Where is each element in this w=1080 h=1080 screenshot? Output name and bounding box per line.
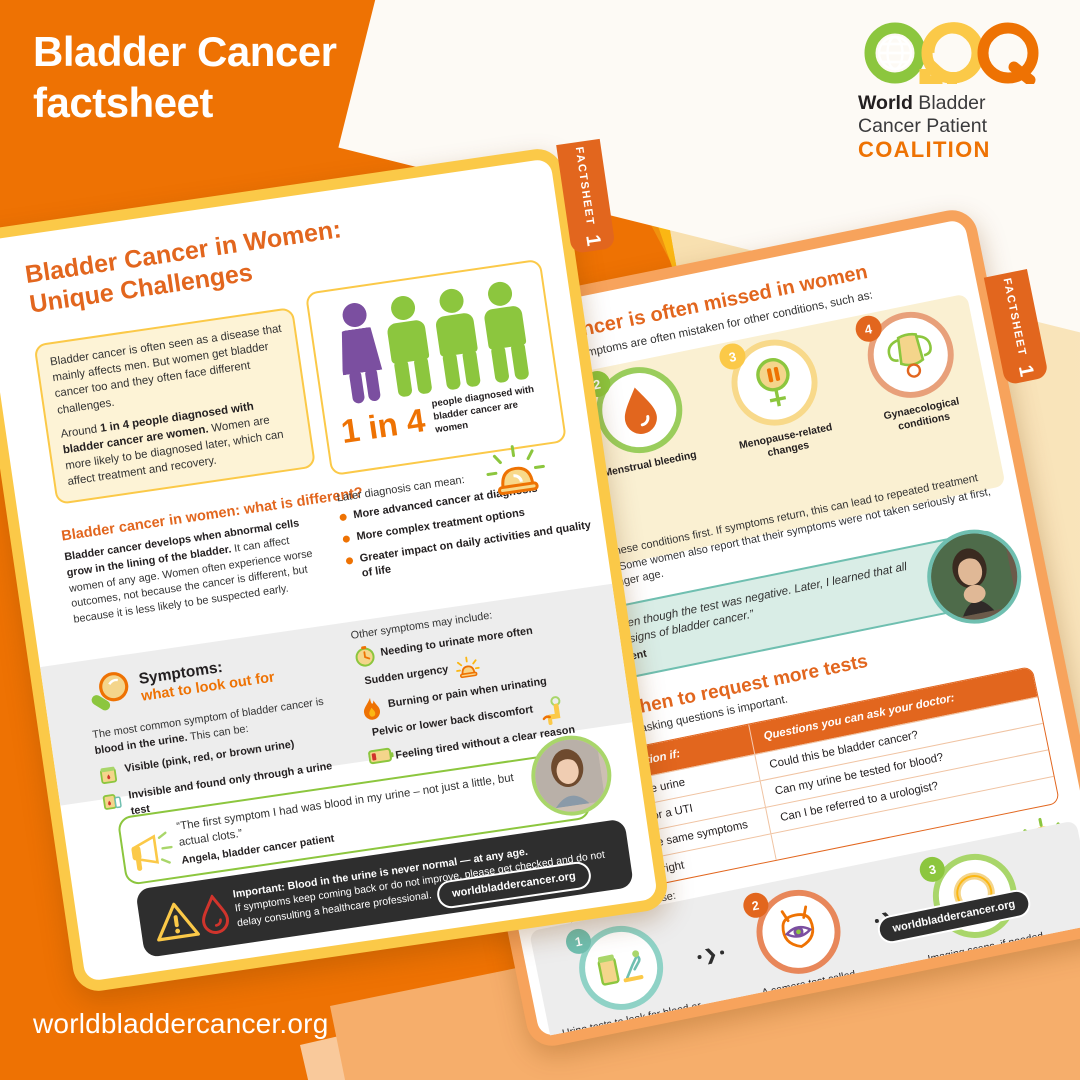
tab-number: 1 xyxy=(1013,363,1038,378)
blood-drop-icon xyxy=(197,893,233,942)
logo-wordmark: World Bladder Cancer Patient COALITION xyxy=(858,92,1058,163)
logo-rings xyxy=(864,22,1039,84)
page-title-line1: Bladder Cancer xyxy=(33,26,493,77)
poster-canvas: Bladder Cancer factsheet xyxy=(0,0,1080,1080)
bullet-dot-icon xyxy=(342,535,350,543)
back-pain-person-icon xyxy=(538,696,561,719)
magnifier-icon xyxy=(84,668,136,720)
logo-line1: World Bladder xyxy=(858,92,1058,115)
urine-test-strip-icon xyxy=(101,790,124,813)
later-diagnosis-list: Later diagnosis can mean: More advanced … xyxy=(336,456,598,589)
low-battery-icon xyxy=(367,747,390,770)
wbcpc-logo: World Bladder Cancer Patient COALITION xyxy=(858,22,1058,163)
man-pictogram-icon xyxy=(476,279,534,384)
logo-line2: Cancer Patient xyxy=(858,115,1058,138)
megaphone-icon xyxy=(127,828,179,879)
intro-box: Bladder cancer is often seen as a diseas… xyxy=(33,307,316,505)
warning-triangle-icon xyxy=(151,897,201,948)
footer-url: worldbladdercancer.org xyxy=(33,1008,328,1040)
man-pictogram-icon xyxy=(379,293,437,398)
logo-line3: COALITION xyxy=(858,137,1058,163)
man-pictogram-icon xyxy=(428,286,486,391)
stat-caption: people diagnosed with bladder cancer are… xyxy=(431,382,552,437)
alarm-bell-icon xyxy=(454,655,477,678)
tab-label: FACTSHEET xyxy=(573,146,596,227)
page-title: Bladder Cancer factsheet xyxy=(33,26,493,128)
page-title-line2: factsheet xyxy=(33,77,493,128)
bullet-dot-icon xyxy=(339,513,347,521)
arrow-icon: ❯ xyxy=(696,943,726,966)
bullet-dot-icon xyxy=(345,557,353,565)
woman-pictogram-icon xyxy=(331,300,389,405)
factsheet-card-front[interactable]: Bladder Cancer in Women: Unique Challeng… xyxy=(0,146,670,995)
flame-icon xyxy=(360,695,383,718)
tab-number: 1 xyxy=(580,233,604,247)
stat-ratio: 1 in 4 xyxy=(339,403,427,448)
urine-sample-icon xyxy=(97,763,120,786)
avatar-maria xyxy=(919,521,1030,632)
alarm-bell-icon-top xyxy=(481,438,551,507)
tab-label: FACTSHEET xyxy=(1001,277,1029,358)
stopwatch-icon xyxy=(352,644,375,667)
